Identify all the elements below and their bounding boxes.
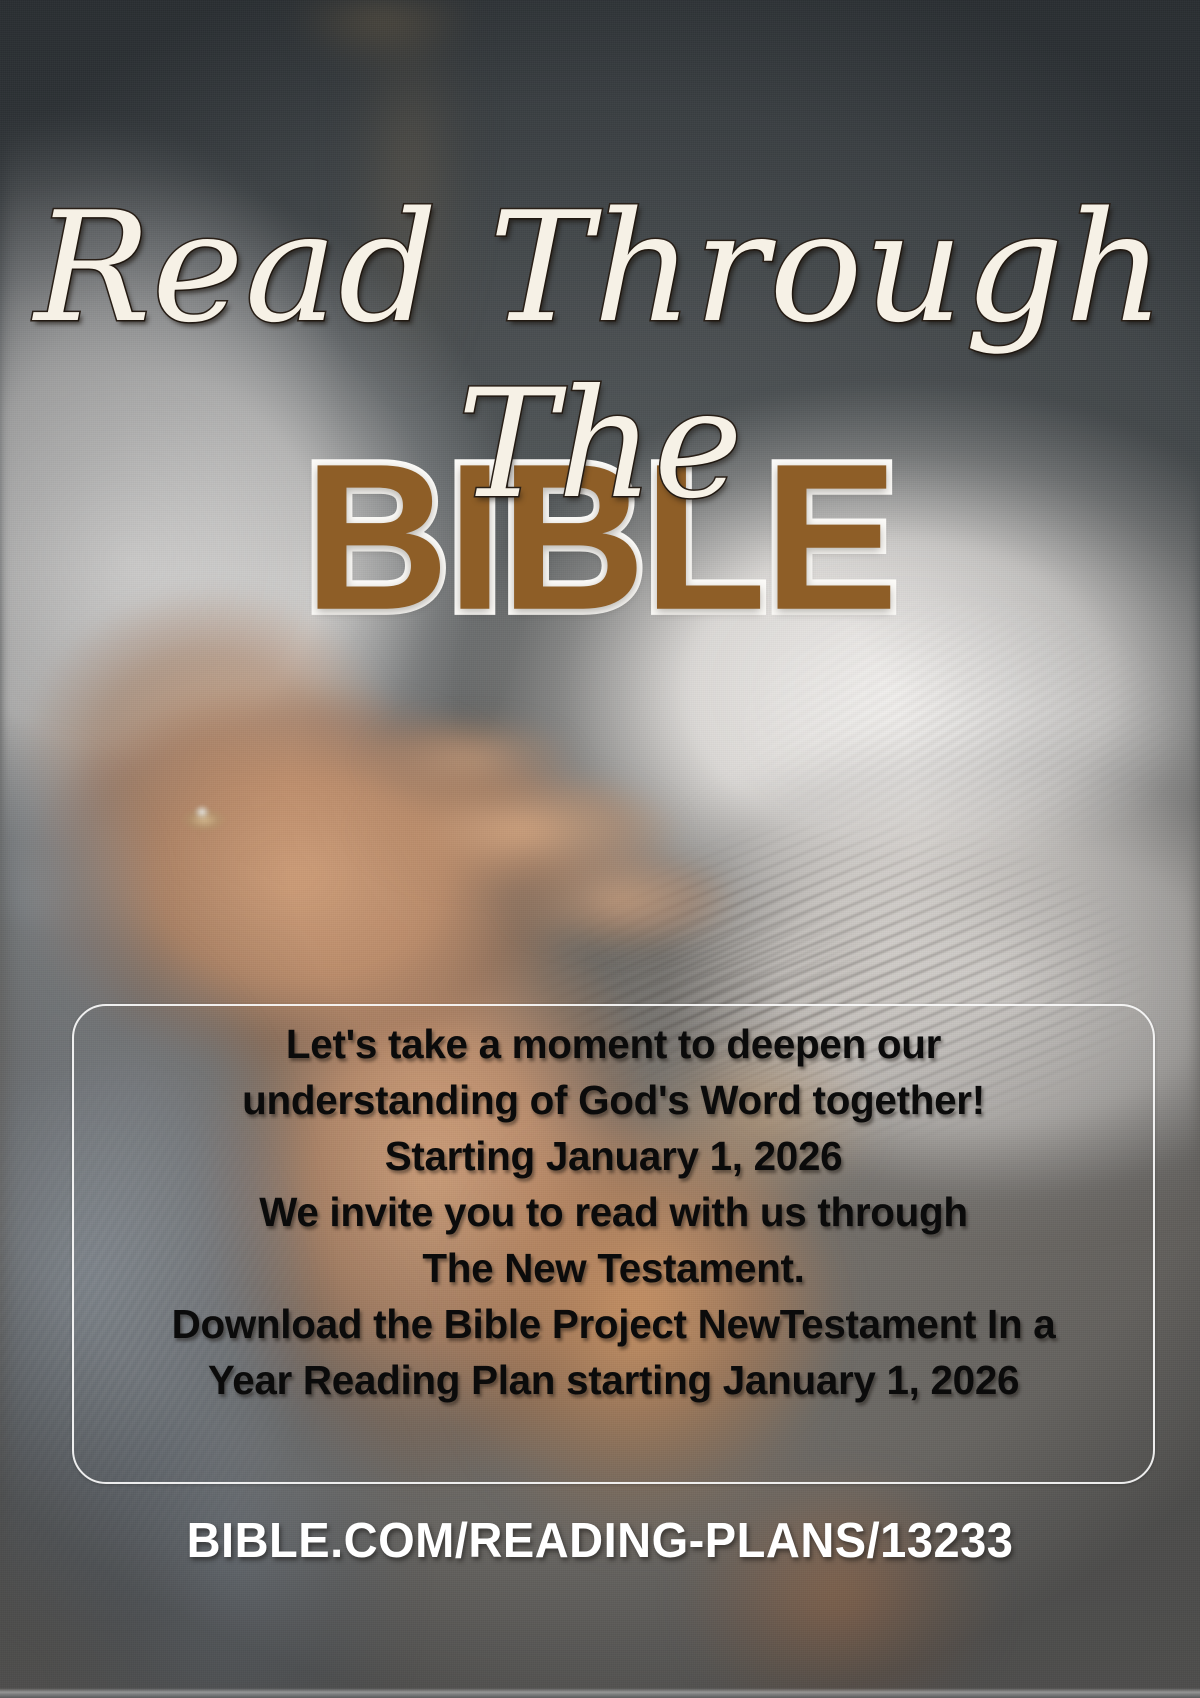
body-line: Year Reading Plan starting January 1, 20… — [80, 1352, 1147, 1408]
reading-plan-url[interactable]: BIBLE.COM/READING-PLANS/13233 — [24, 1513, 1176, 1569]
body-line: Starting January 1, 2026 — [80, 1128, 1147, 1184]
body-line: Download the Bible Project NewTestament … — [80, 1296, 1147, 1352]
body-line: understanding of God's Word together! — [80, 1072, 1147, 1128]
body-line: We invite you to read with us through — [80, 1184, 1147, 1240]
headline-script-top: Read Through — [0, 192, 1200, 344]
body-line: The New Testament. — [80, 1240, 1147, 1296]
body-copy: Let's take a moment to deepen our unders… — [80, 1016, 1147, 1408]
body-line: Let's take a moment to deepen our — [80, 1016, 1147, 1072]
headline-read-through: Read Through — [0, 192, 1200, 344]
background-bottom-edge — [0, 1688, 1200, 1698]
poster-canvas: Read Through BIBLE The Let's take a mome… — [0, 0, 1200, 1698]
headline-bible-row: BIBLE The — [0, 434, 1200, 664]
headline-bible-word: BIBLE — [304, 434, 896, 642]
